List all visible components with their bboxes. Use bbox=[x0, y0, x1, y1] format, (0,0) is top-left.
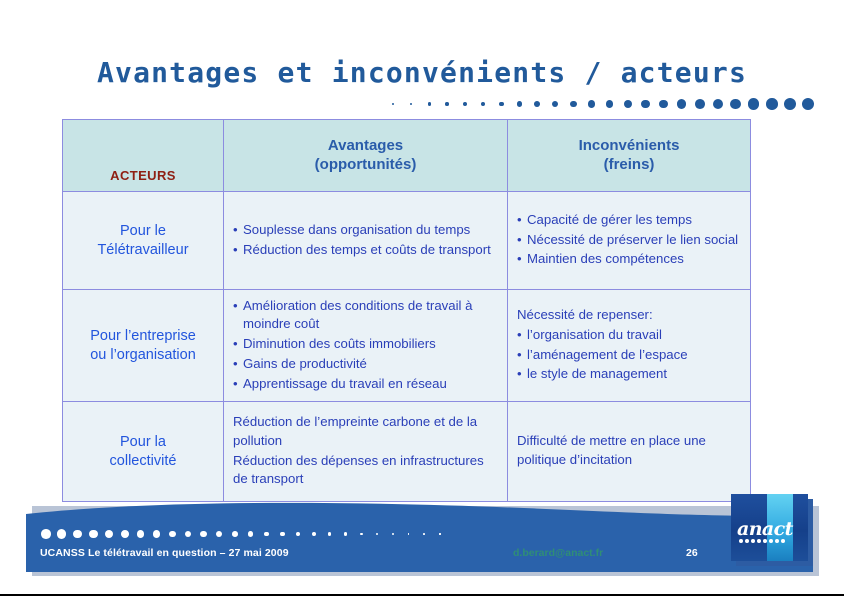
decoration-dot bbox=[392, 103, 394, 105]
footer-caption: UCANSS Le télétravail en question – 27 m… bbox=[40, 547, 289, 559]
decoration-dot bbox=[499, 102, 504, 107]
footer-band: UCANSS Le télétravail en question – 27 m… bbox=[26, 500, 813, 572]
cell-advantages-list: Réduction de l’empreinte carbone et de l… bbox=[233, 413, 498, 489]
footer-decoration-dot bbox=[312, 532, 316, 536]
footer-decoration-dot bbox=[216, 531, 222, 537]
logo-dot bbox=[769, 539, 773, 543]
column-header-actors: ACTEURS bbox=[63, 120, 224, 192]
footer-decoration-dot bbox=[89, 530, 98, 539]
decoration-dot bbox=[534, 101, 540, 107]
row-header-actor-line1: Pour le bbox=[120, 223, 166, 239]
row-header-actor: Pour lacollectivité bbox=[63, 402, 224, 502]
list-item: Amélioration des conditions de travail à… bbox=[233, 297, 498, 334]
column-header-drawbacks: Inconvénients (freins) bbox=[508, 120, 751, 192]
cell-drawbacks-list: Nécessité de repenser:l’organisation du … bbox=[517, 306, 741, 384]
column-header-advantages-line1: Avantages bbox=[328, 137, 403, 154]
page-title: Avantages et inconvénients / acteurs bbox=[0, 56, 844, 89]
advantages-drawbacks-table: ACTEURS Avantages (opportunités) Inconvé… bbox=[62, 119, 751, 502]
footer-decoration-dot bbox=[121, 530, 129, 538]
decoration-dot bbox=[410, 103, 413, 106]
list-item: Capacité de gérer les temps bbox=[517, 211, 741, 230]
footer-dot-decoration bbox=[40, 526, 780, 542]
logo-wordmark: anact bbox=[737, 520, 808, 539]
footer-decoration-dot bbox=[360, 533, 363, 536]
decoration-dot bbox=[784, 98, 796, 110]
list-item: Nécessité de préserver le lien social bbox=[517, 231, 741, 250]
footer-decoration-dot bbox=[153, 530, 160, 537]
list-item: Réduction des temps et coûts de transpor… bbox=[233, 241, 498, 260]
decoration-dot bbox=[588, 100, 595, 107]
cell-advantages: Souplesse dans organisation du tempsRédu… bbox=[224, 192, 508, 290]
logo-dot bbox=[757, 539, 761, 543]
footer-decoration-dot bbox=[344, 532, 347, 535]
footer-decoration-dot bbox=[105, 530, 113, 538]
anact-logo: anact bbox=[731, 494, 813, 566]
column-header-drawbacks-line1: Inconvénients bbox=[579, 137, 680, 154]
row-header-actor-line2: ou l’organisation bbox=[90, 347, 196, 363]
decoration-dot bbox=[428, 102, 431, 105]
decoration-dot bbox=[517, 101, 522, 106]
footer-decoration-dot bbox=[439, 533, 440, 534]
title-dot-decoration bbox=[0, 94, 844, 114]
list-item: Maintien des compétences bbox=[517, 250, 741, 269]
footer-decoration-dot bbox=[280, 532, 285, 537]
page-number: 26 bbox=[686, 547, 698, 559]
list-item: le style de management bbox=[517, 365, 741, 384]
logo-dot-decoration bbox=[739, 539, 801, 546]
footer-decoration-dot bbox=[137, 530, 145, 538]
list-item: Difficulté de mettre en place une politi… bbox=[517, 432, 741, 469]
footer-decoration-dot bbox=[57, 529, 66, 538]
cell-advantages-list: Souplesse dans organisation du tempsRédu… bbox=[233, 221, 498, 259]
list-item: l’aménagement de l’espace bbox=[517, 346, 741, 365]
footer-decoration-dot bbox=[296, 532, 300, 536]
footer-decoration-dot bbox=[41, 529, 51, 539]
cell-advantages-list: Amélioration des conditions de travail à… bbox=[233, 297, 498, 394]
row-header-actor-line1: Pour la bbox=[120, 434, 166, 450]
row-header-actor-line2: collectivité bbox=[110, 453, 177, 469]
decoration-dot bbox=[641, 100, 649, 108]
column-header-advantages: Avantages (opportunités) bbox=[224, 120, 508, 192]
footer-email: d.berard@anact.fr bbox=[513, 547, 603, 559]
footer-decoration-dot bbox=[248, 531, 253, 536]
decoration-dot bbox=[677, 99, 686, 108]
decoration-dot bbox=[606, 100, 614, 108]
cell-drawbacks: Capacité de gérer les tempsNécessité de … bbox=[508, 192, 751, 290]
table-header-row: ACTEURS Avantages (opportunités) Inconvé… bbox=[63, 120, 751, 192]
cell-drawbacks: Nécessité de repenser:l’organisation du … bbox=[508, 290, 751, 402]
row-header-actor: Pour l’entrepriseou l’organisation bbox=[63, 290, 224, 402]
decoration-dot bbox=[659, 100, 668, 109]
footer-decoration-dot bbox=[200, 531, 206, 537]
footer-decoration-dot bbox=[423, 533, 425, 535]
list-item: Nécessité de repenser: bbox=[517, 306, 741, 325]
slide-canvas: Avantages et inconvénients / acteurs ACT… bbox=[0, 0, 844, 596]
decoration-dot bbox=[463, 102, 467, 106]
logo-dot bbox=[739, 539, 743, 543]
decoration-dot bbox=[445, 102, 449, 106]
logo-dot bbox=[745, 539, 749, 543]
decoration-dot bbox=[748, 98, 759, 109]
row-header-actor-line1: Pour l’entreprise bbox=[90, 328, 196, 344]
logo-dot bbox=[781, 539, 785, 543]
decoration-dot bbox=[570, 101, 577, 108]
decoration-dot bbox=[624, 100, 632, 108]
table-body: Pour leTélétravailleurSouplesse dans org… bbox=[63, 192, 751, 502]
table-row: Pour l’entrepriseou l’organisationAmélio… bbox=[63, 290, 751, 402]
cell-advantages: Réduction de l’empreinte carbone et de l… bbox=[224, 402, 508, 502]
list-item: Souplesse dans organisation du temps bbox=[233, 221, 498, 240]
footer-decoration-dot bbox=[185, 531, 192, 538]
logo-dot bbox=[763, 539, 767, 543]
column-header-advantages-line2: (opportunités) bbox=[315, 156, 417, 173]
decoration-dot bbox=[481, 102, 485, 106]
footer-decoration-dot bbox=[408, 533, 410, 535]
decoration-dot bbox=[802, 98, 815, 111]
list-item: Réduction de l’empreinte carbone et de l… bbox=[233, 413, 498, 450]
cell-drawbacks-list: Difficulté de mettre en place une politi… bbox=[517, 432, 741, 469]
title-block: Avantages et inconvénients / acteurs bbox=[0, 56, 844, 112]
footer-decoration-dot bbox=[392, 533, 394, 535]
list-item: Réduction des dépenses en infrastructure… bbox=[233, 452, 498, 489]
footer-decoration-dot bbox=[264, 532, 269, 537]
decoration-dot bbox=[552, 101, 558, 107]
decoration-dot bbox=[695, 99, 705, 109]
cell-drawbacks-list: Capacité de gérer les tempsNécessité de … bbox=[517, 211, 741, 269]
list-item: Apprentissage du travail en réseau bbox=[233, 375, 498, 394]
logo-dot bbox=[775, 539, 779, 543]
logo-dot bbox=[751, 539, 755, 543]
cell-advantages: Amélioration des conditions de travail à… bbox=[224, 290, 508, 402]
cell-drawbacks: Difficulté de mettre en place une politi… bbox=[508, 402, 751, 502]
list-item: Diminution des coûts immobiliers bbox=[233, 335, 498, 354]
row-header-actor-line2: Télétravailleur bbox=[97, 242, 188, 258]
row-header-actor: Pour leTélétravailleur bbox=[63, 192, 224, 290]
footer-decoration-dot bbox=[73, 530, 82, 539]
column-header-drawbacks-line2: (freins) bbox=[604, 156, 655, 173]
decoration-dot bbox=[766, 98, 778, 110]
footer-decoration-dot bbox=[328, 532, 332, 536]
footer-decoration-dot bbox=[169, 531, 176, 538]
decoration-dot bbox=[730, 99, 741, 110]
footer-decoration-dot bbox=[376, 533, 379, 536]
table-row: Pour leTélétravailleurSouplesse dans org… bbox=[63, 192, 751, 290]
table-header: ACTEURS Avantages (opportunités) Inconvé… bbox=[63, 120, 751, 192]
table-row: Pour lacollectivitéRéduction de l’emprei… bbox=[63, 402, 751, 502]
list-item: Gains de productivité bbox=[233, 355, 498, 374]
list-item: l’organisation du travail bbox=[517, 326, 741, 345]
decoration-dot bbox=[713, 99, 723, 109]
footer-decoration-dot bbox=[232, 531, 238, 537]
